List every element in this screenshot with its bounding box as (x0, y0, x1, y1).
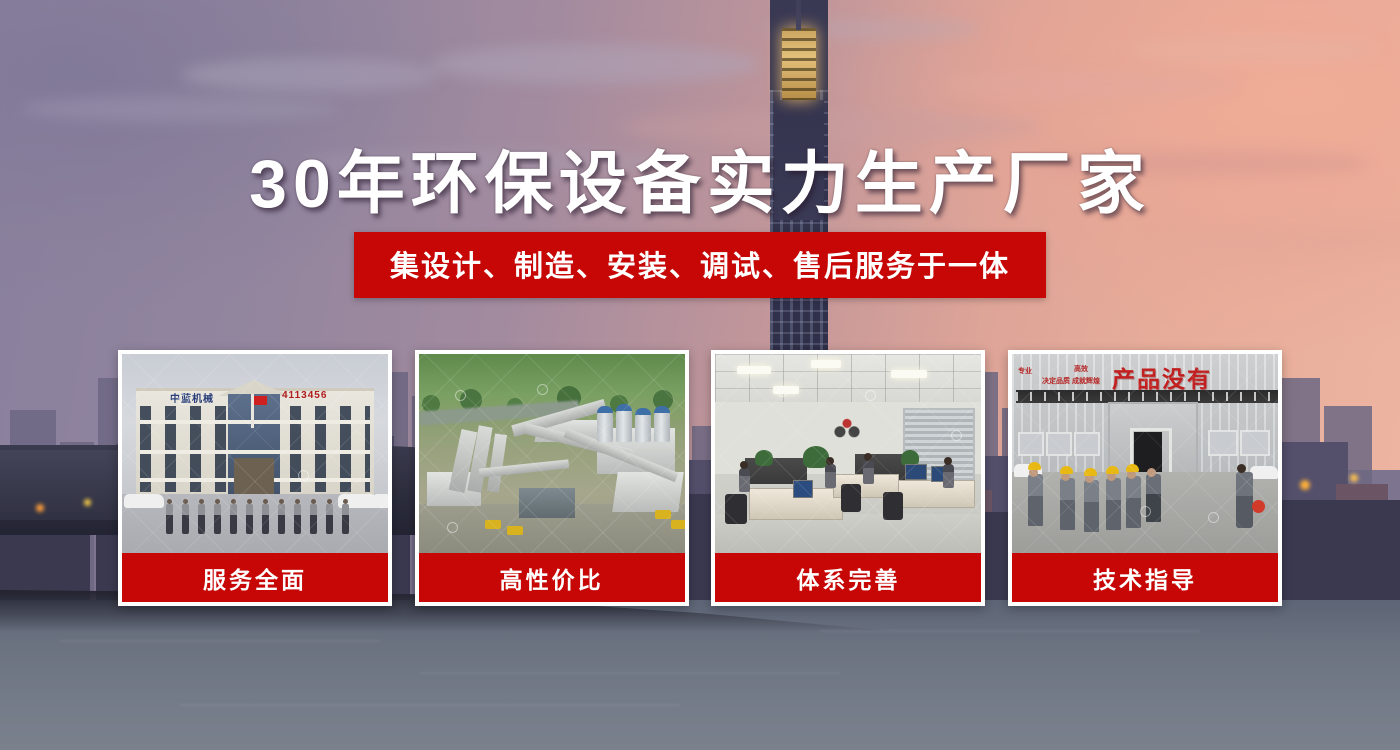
feature-card[interactable]: 体系完善 (711, 350, 985, 606)
tower-mast (796, 0, 801, 30)
feature-card[interactable]: 中蓝机械 4113456 (118, 350, 392, 606)
building-phone-text: 4113456 (282, 390, 327, 401)
wall-logo-icon (825, 412, 869, 442)
card-photo-aerial-plant (419, 354, 685, 553)
card-caption: 高性价比 (419, 553, 685, 602)
card-caption: 体系完善 (715, 553, 981, 602)
feature-card[interactable]: 产品没有 专业 决定品质 高效 成就辉煌 (1008, 350, 1282, 606)
red-helmet-held (1252, 500, 1265, 513)
factory-banner-text: 产品没有 (1112, 360, 1212, 394)
factory-slogan: 专业 (1018, 368, 1032, 377)
subtitle-banner: 集设计、制造、安装、调试、售后服务于一体 (354, 232, 1046, 298)
tower-crown-lights (782, 28, 816, 100)
page-title: 30年环保设备实力生产厂家 (0, 128, 1400, 227)
card-caption: 服务全面 (122, 553, 388, 602)
factory-slogan: 高效 (1074, 366, 1088, 375)
factory-slogan: 成就辉煌 (1072, 378, 1100, 387)
hero-banner: 30年环保设备实力生产厂家 集设计、制造、安装、调试、售后服务于一体 中蓝机械 … (0, 0, 1400, 750)
building-signage-text: 中蓝机械 (170, 390, 214, 405)
card-photo-workers-training: 产品没有 专业 决定品质 高效 成就辉煌 (1012, 354, 1278, 553)
factory-slogan: 决定品质 (1042, 378, 1070, 387)
card-photo-company-building: 中蓝机械 4113456 (122, 354, 388, 553)
card-photo-office-team (715, 354, 981, 553)
feature-card-list: 中蓝机械 4113456 (118, 350, 1282, 606)
card-caption: 技术指导 (1012, 553, 1278, 602)
feature-card[interactable]: 高性价比 (415, 350, 689, 606)
